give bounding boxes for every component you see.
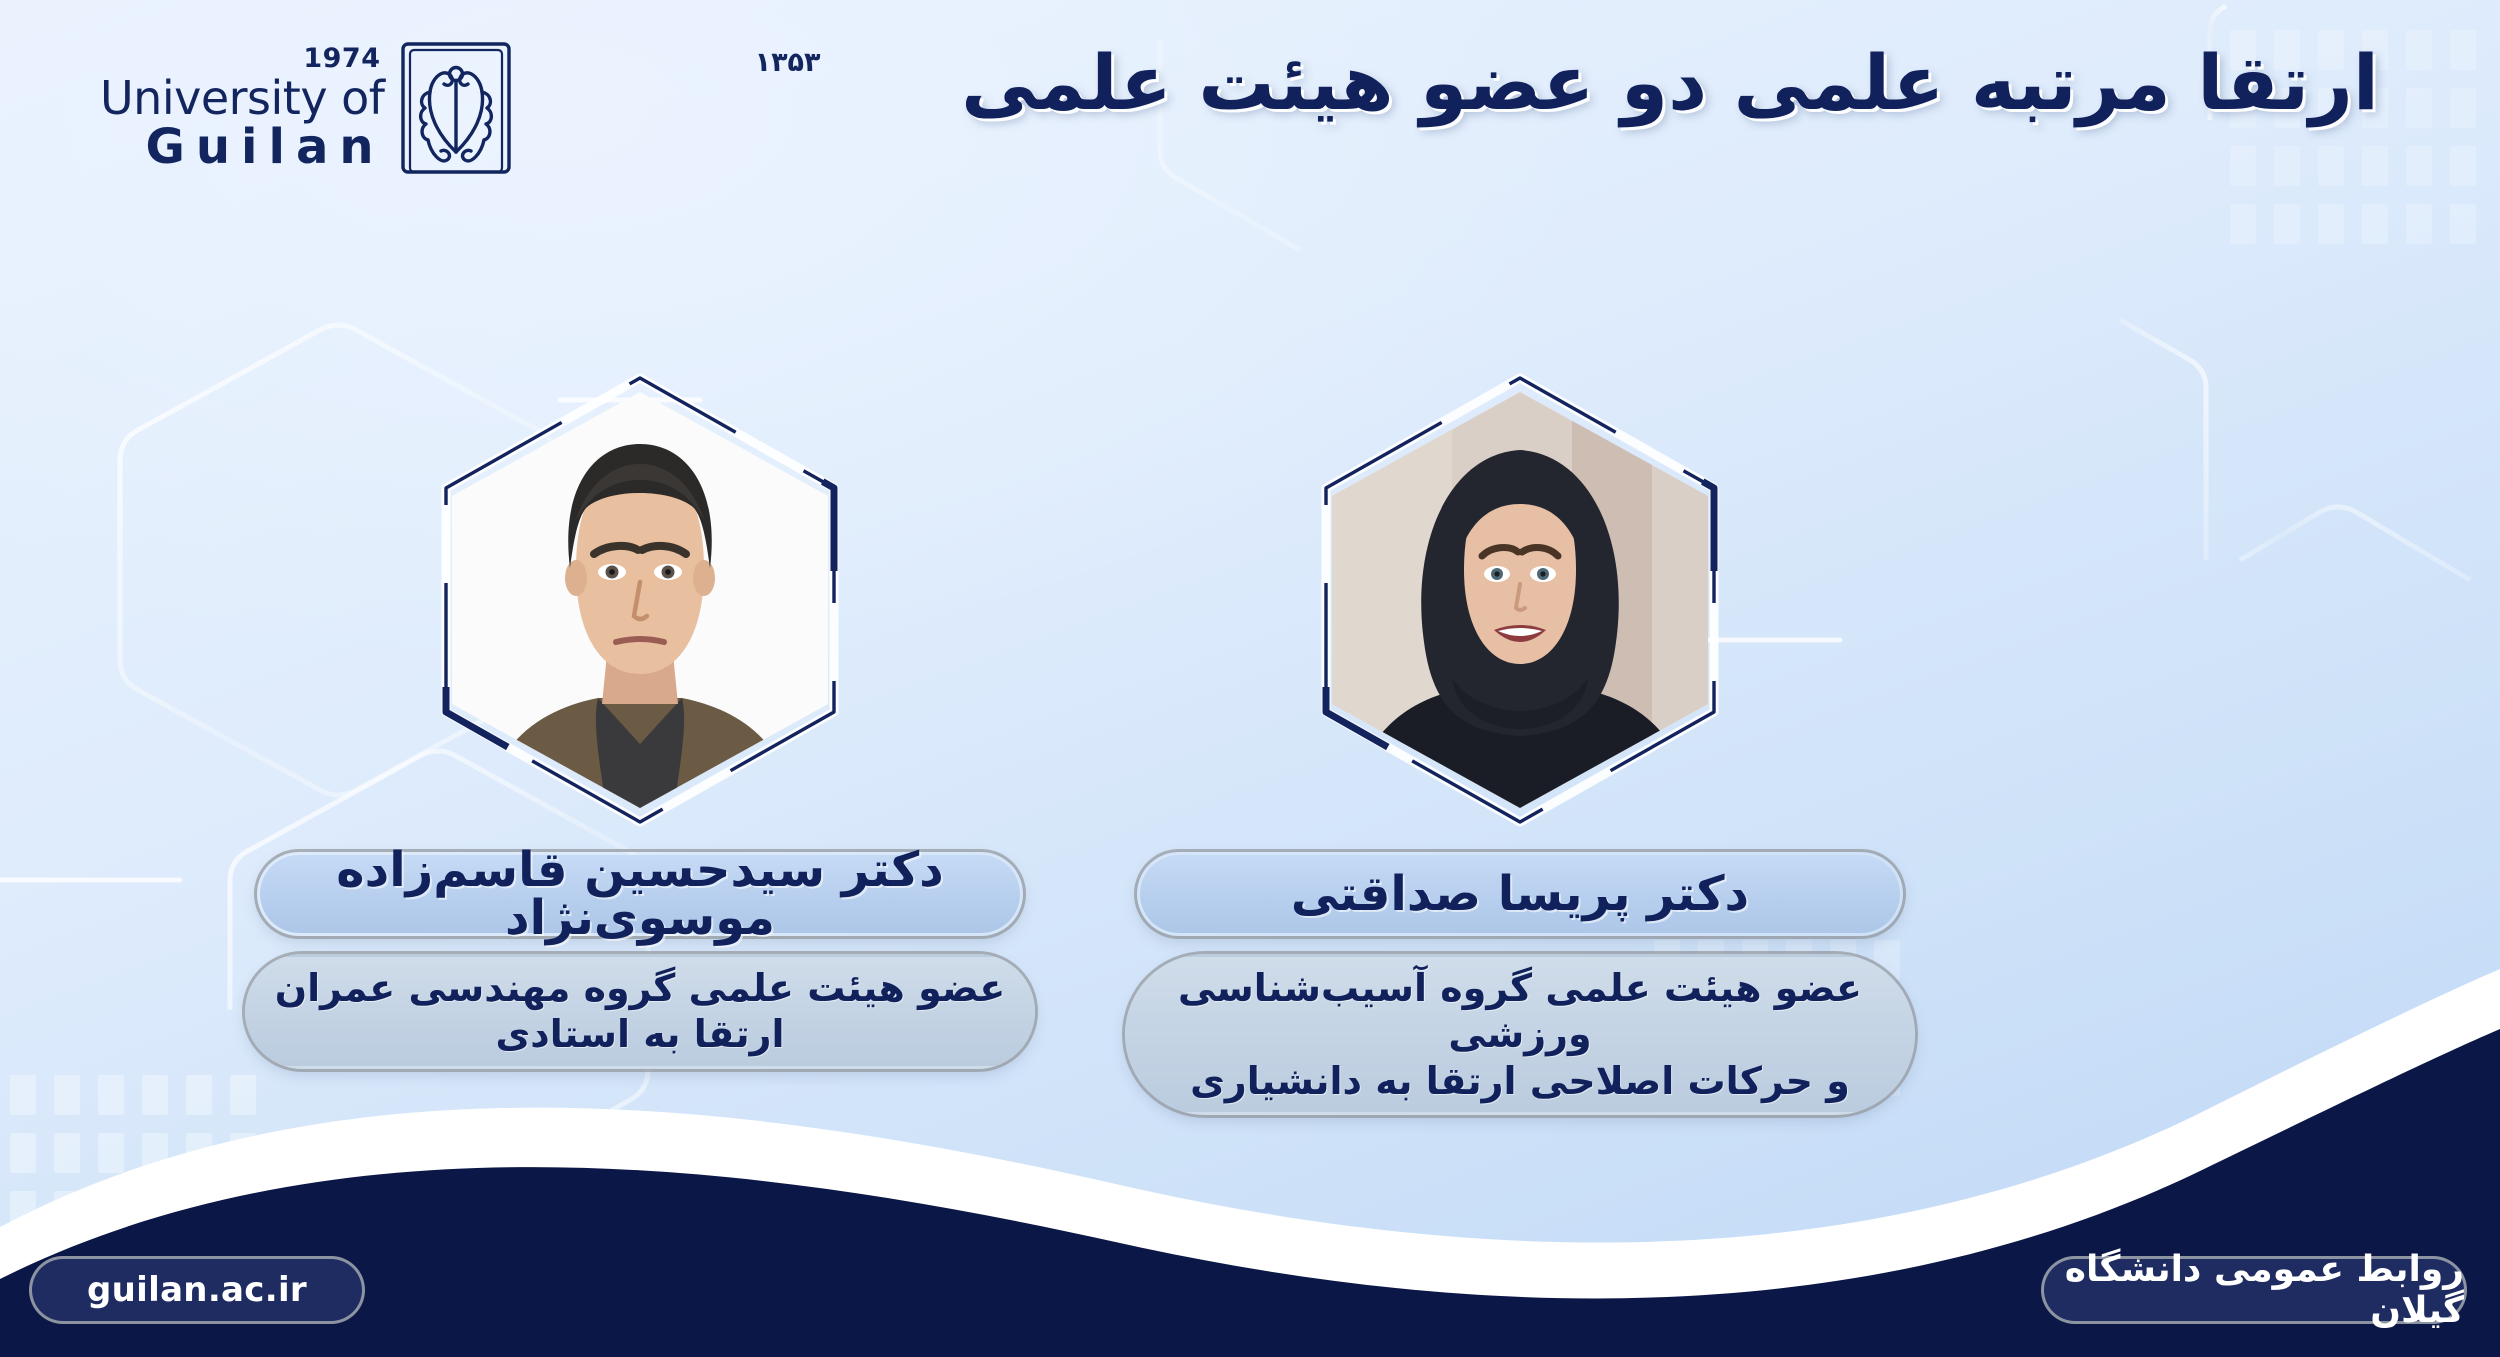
- logo-persian-block: ۱۳۵۳ دانشگاه گیلان: [521, 47, 821, 169]
- logo-guilan: Guilan: [145, 123, 384, 171]
- page-title: ارتقا مرتبه علمی دو عضو هیئت علمی: [960, 34, 2380, 131]
- person-name-right: دکتر سیدحسین قاسم‌زاده موسوی‌نژاد: [257, 852, 1023, 936]
- person-name-left: دکتر پریسا صداقتی: [1137, 852, 1903, 936]
- logo-university-of: University of: [100, 75, 385, 121]
- logo-persian-name-calligraphy: دانشگاه گیلان: [521, 74, 821, 169]
- hexagon-frame-right: [430, 370, 850, 830]
- logo-year-gregorian: 1974: [303, 45, 380, 72]
- hexagon-frame-left: [1310, 370, 1730, 830]
- university-logo: 1974 University of Guilan ۱۳۵۳ دانشگاه گ…: [100, 38, 821, 178]
- poster-canvas: 1974 University of Guilan ۱۳۵۳ دانشگاه گ…: [0, 0, 2500, 1357]
- website-badge[interactable]: guilan.ac.ir: [32, 1259, 362, 1321]
- avatar-left: [1310, 370, 1730, 830]
- public-relations-badge: روابط عمومی دانشگاه گیلان: [2044, 1259, 2464, 1321]
- logo-english-block: 1974 University of Guilan: [100, 45, 385, 171]
- guilan-emblem-icon: [397, 38, 515, 178]
- logo-persian-name-text: دانشگاه گیلان: [817, 88, 821, 161]
- avatar-right: [430, 370, 850, 830]
